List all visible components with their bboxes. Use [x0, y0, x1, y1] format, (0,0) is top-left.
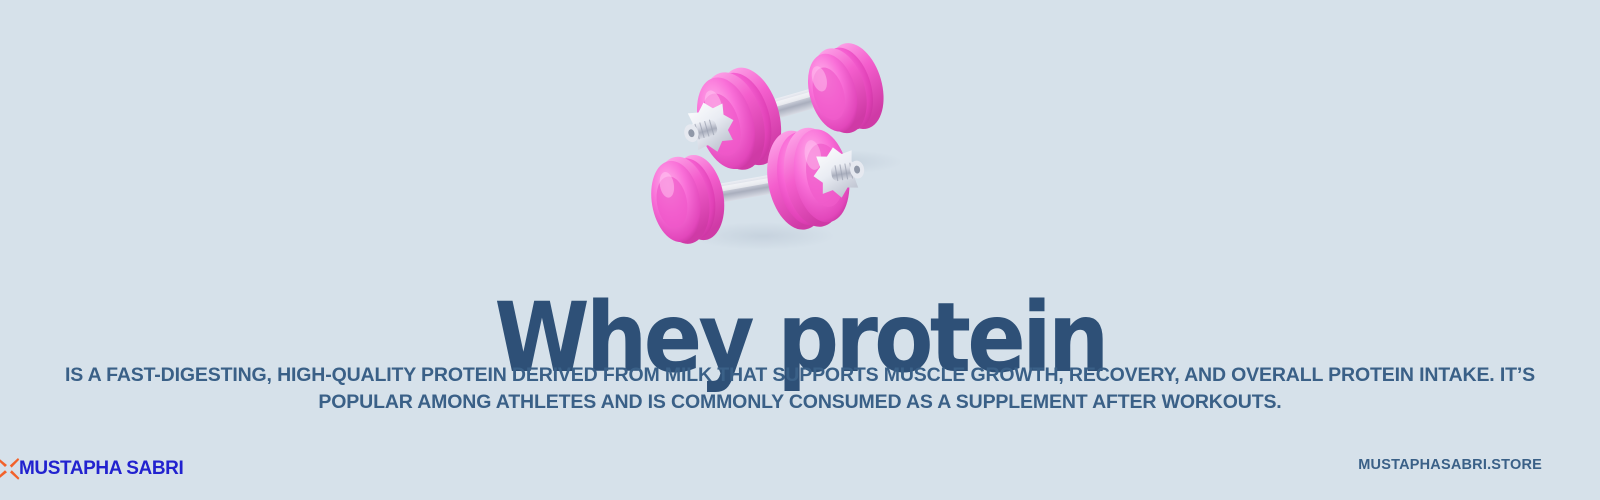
description-text: IS A FAST-DIGESTING, HIGH-QUALITY PROTEI… — [40, 362, 1560, 416]
site-url-text[interactable]: MUSTAPHASABRI.STORE — [1358, 457, 1542, 473]
brand-logo[interactable]: MUSTAPHA SABRI — [0, 452, 183, 486]
dumbbells-illustration — [645, 22, 935, 252]
brand-name-text: MUSTAPHA SABRI — [19, 458, 183, 480]
promo-banner: Whey protein IS A FAST-DIGESTING, HIGH-Q… — [0, 0, 1600, 500]
